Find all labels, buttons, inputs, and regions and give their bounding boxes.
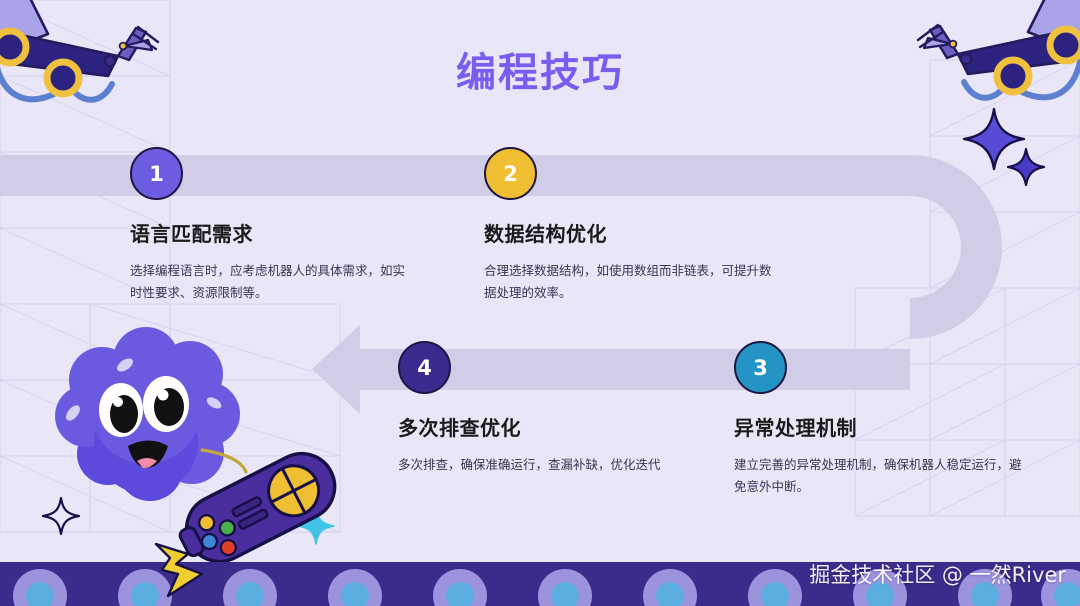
watermark-text: 掘金技术社区 @ 一然River	[809, 559, 1066, 589]
step-4-description: 多次排查，确保准确运行，查漏补缺，优化迭代	[398, 454, 678, 476]
step-4-badge: 4	[398, 341, 451, 394]
step-2[interactable]: 2 数据结构优化 合理选择数据结构，如使用数组而非链表，可提升数据处理的效率。	[484, 147, 774, 304]
step-3-badge: 3	[734, 341, 787, 394]
slide-canvas: 编程技巧	[0, 0, 1080, 606]
step-4[interactable]: 4 多次排查优化 多次排查，确保准确运行，查漏补缺，优化迭代	[398, 341, 678, 476]
step-2-description: 合理选择数据结构，如使用数组而非链表，可提升数据处理的效率。	[484, 260, 774, 304]
step-3-title: 异常处理机制	[734, 412, 1026, 441]
step-4-title: 多次排查优化	[398, 412, 678, 441]
step-1[interactable]: 1 语言匹配需求 选择编程语言时，应考虑机器人的具体需求，如实时性要求、资源限制…	[130, 147, 410, 304]
step-3-description: 建立完善的异常处理机制，确保机器人稳定运行，避免意外中断。	[734, 454, 1026, 498]
step-2-badge: 2	[484, 147, 537, 200]
step-1-description: 选择编程语言时，应考虑机器人的具体需求，如实时性要求、资源限制等。	[130, 260, 410, 304]
step-1-title: 语言匹配需求	[130, 218, 410, 247]
step-1-badge: 1	[130, 147, 183, 200]
step-2-title: 数据结构优化	[484, 218, 774, 247]
step-3[interactable]: 3 异常处理机制 建立完善的异常处理机制，确保机器人稳定运行，避免意外中断。	[734, 341, 1026, 498]
page-title: 编程技巧	[0, 40, 1080, 98]
